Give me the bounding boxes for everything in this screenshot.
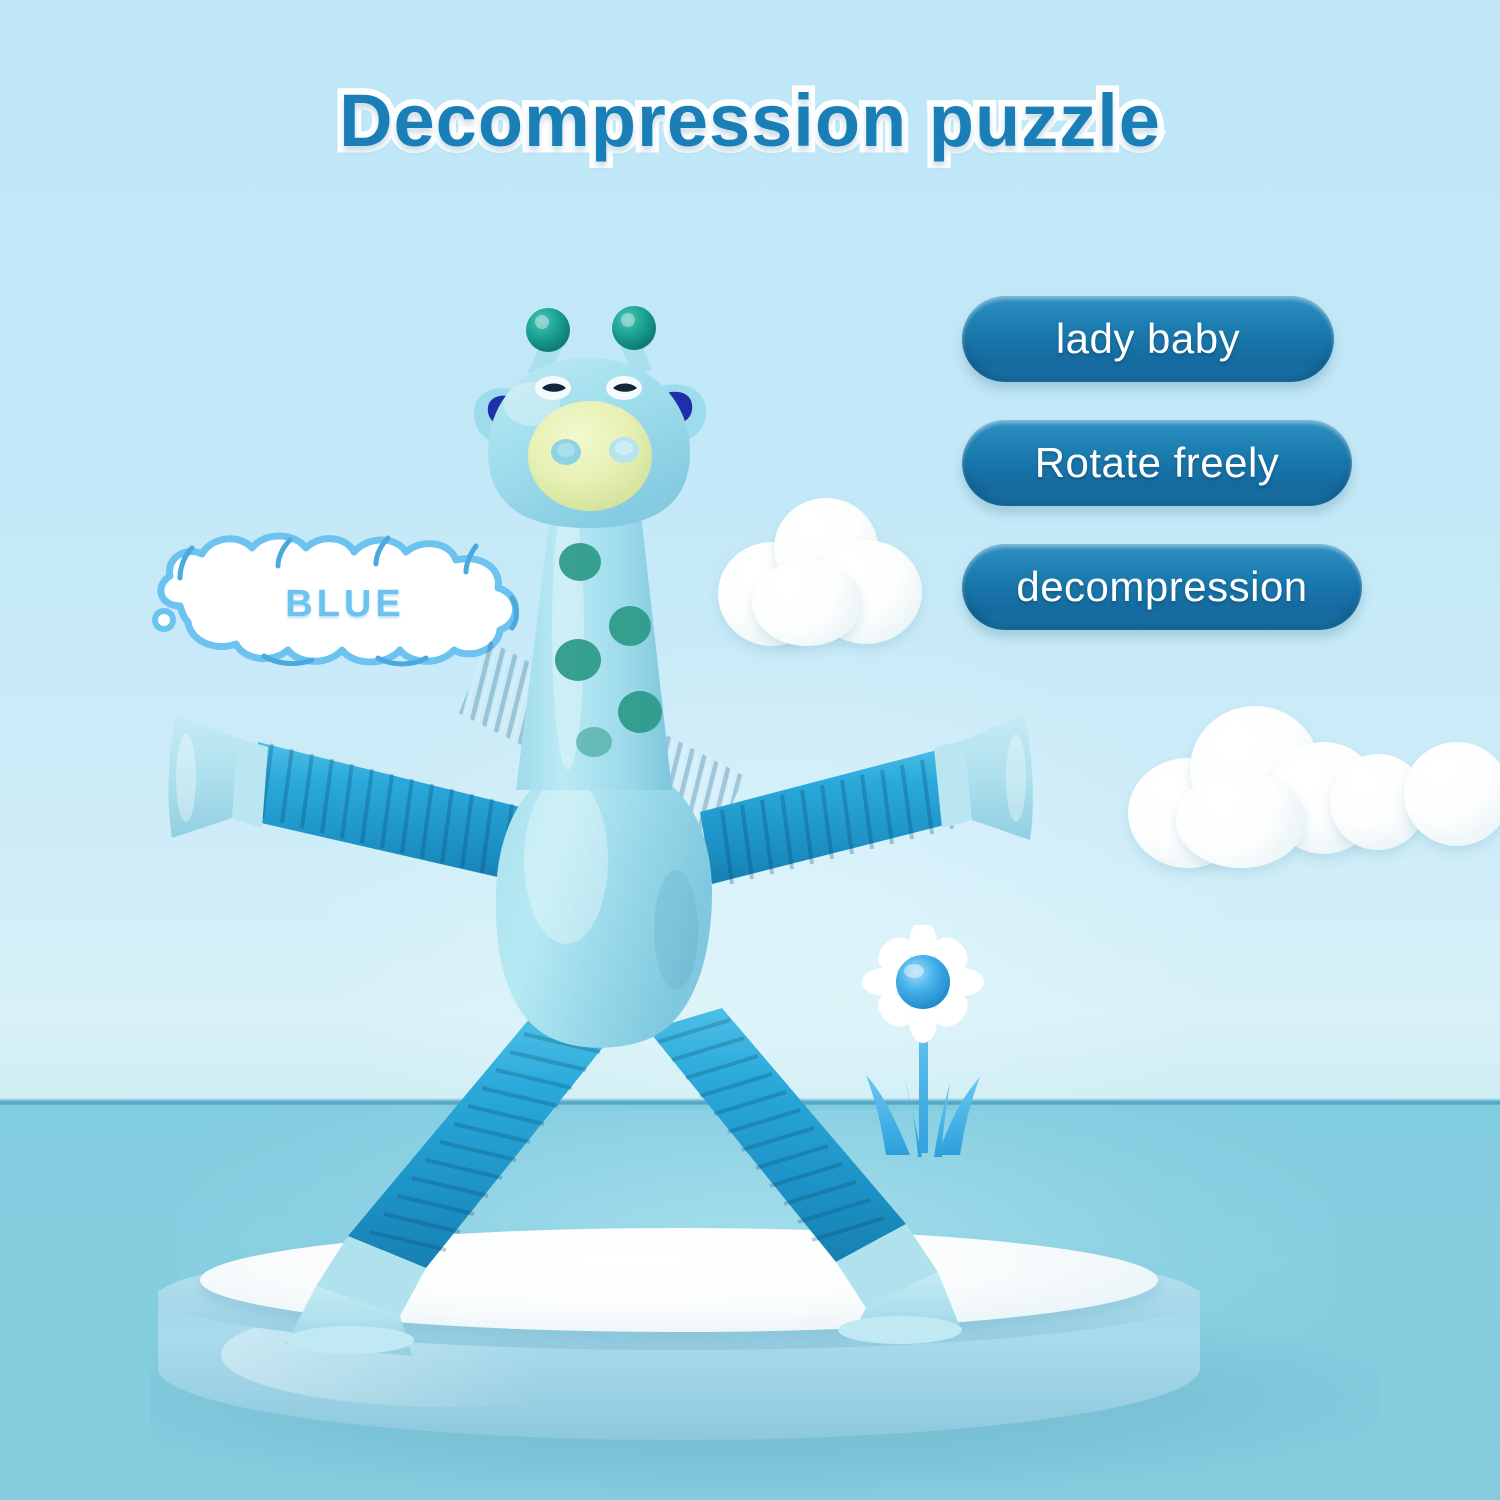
feature-badge-decompression[interactable]: decompression: [962, 544, 1362, 630]
feature-badge-lady-baby[interactable]: lady baby: [962, 296, 1334, 382]
feature-badge-label: decompression: [1016, 563, 1307, 611]
right-leg: [648, 1008, 962, 1346]
feature-badge-label: lady baby: [1056, 315, 1240, 363]
left-leg: [286, 1018, 612, 1356]
torso: [496, 760, 712, 1048]
giraffe-pop-tube-toy[interactable]: [0, 0, 1500, 1500]
ossicone-right: [612, 306, 656, 350]
feature-badge-label: Rotate freely: [1035, 439, 1280, 487]
head: [474, 306, 706, 528]
suction-cup-right-arm: [934, 714, 1033, 840]
ossicone-left: [526, 308, 570, 352]
right-arm: [700, 714, 1033, 884]
feature-badge-rotate-freely[interactable]: Rotate freely: [962, 420, 1352, 506]
feature-badge-list: lady baby Rotate freely decompression: [962, 296, 1362, 630]
suction-cup-left-arm: [169, 716, 268, 838]
product-banner: Decompression puzzle: [0, 0, 1500, 1500]
